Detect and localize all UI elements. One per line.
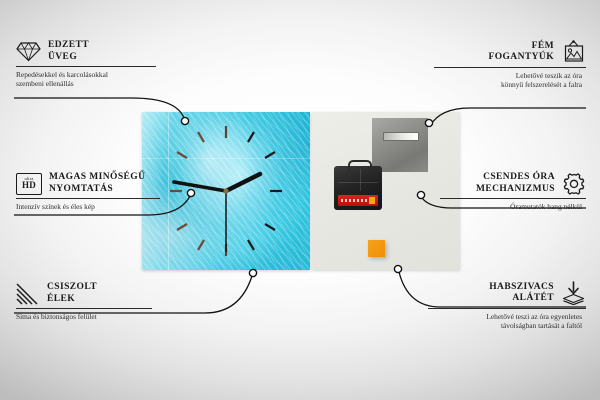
- infographic-canvas: EDZETT ÜVEG Repedésekkel és karcolásokka…: [0, 0, 600, 400]
- ultra-hd-icon-bottom: HD: [22, 181, 36, 190]
- foam-pad-icon: [561, 281, 586, 305]
- feature-divider: [440, 198, 586, 199]
- feature-divider: [16, 198, 160, 199]
- battery-label: [341, 199, 367, 202]
- feature-title: CSENDES ÓRA MECHANIZMUS: [476, 172, 555, 195]
- feature-divider: [16, 66, 156, 67]
- clock-mechanism-box: [334, 166, 382, 210]
- feature-edzett-uveg: EDZETT ÜVEG Repedésekkel és karcolásokka…: [16, 40, 171, 88]
- feature-magas-minosegu-nyomtatas: ultra HD MAGAS MINŐSÉGŰ NYOMTATÁS Intenz…: [16, 172, 176, 211]
- polished-edges-icon: [16, 283, 40, 305]
- feature-csiszolt-elek: CSISZOLT ÉLEK Sima és biztonságos felüle…: [16, 282, 166, 321]
- connector-dot-csiszolt-elek: [249, 269, 256, 276]
- hour-hand: [226, 174, 260, 191]
- metal-hanger-plate: [372, 118, 428, 172]
- product-photo: [142, 112, 460, 270]
- feature-title: MAGAS MINŐSÉGŰ NYOMTATÁS: [49, 172, 145, 195]
- feature-fem-fogantyuk: FÉM FOGANTYÚK Lehetővé teszik az óra kön…: [414, 40, 586, 89]
- feature-subtitle: Intenzív színek és éles kép: [16, 202, 176, 211]
- feature-subtitle: Sima és biztonságos felület: [16, 312, 166, 321]
- feature-subtitle: Lehetővé teszi az óra egyenletes távolsá…: [408, 312, 586, 330]
- clock-center-cap: [223, 188, 228, 193]
- feature-title: FÉM FOGANTYÚK: [488, 41, 554, 64]
- diamond-icon: [16, 41, 41, 62]
- feature-subtitle: Repedésekkel és karcolásokkal szembeni e…: [16, 70, 171, 88]
- feature-subtitle: Lehetővé teszik az óra könnyű felszerelé…: [414, 71, 586, 89]
- mechanism-seam-vertical: [360, 169, 361, 191]
- feature-title: EDZETT ÜVEG: [48, 40, 89, 63]
- hanger-keyhole-slot: [383, 132, 419, 141]
- picture-hanger-icon: [561, 40, 586, 64]
- feature-csendes-ora-mechanizmus: CSENDES ÓRA MECHANIZMUS Óramutatók hang …: [421, 172, 586, 211]
- feature-title: CSISZOLT ÉLEK: [47, 282, 97, 305]
- feature-divider: [434, 67, 586, 68]
- foam-pad: [368, 240, 385, 257]
- feature-divider: [428, 308, 586, 309]
- mechanism-seam: [338, 182, 378, 183]
- feature-divider: [16, 308, 152, 309]
- feature-subtitle: Óramutatók hang nélkül: [421, 202, 586, 211]
- minute-hand: [174, 182, 226, 191]
- battery: [338, 195, 378, 206]
- feature-title: HABSZIVACS ALÁTÉT: [489, 282, 554, 305]
- gear-icon: [562, 172, 586, 195]
- feature-habszivacs-alatet: HABSZIVACS ALÁTÉT Lehetővé teszi az óra …: [408, 281, 586, 330]
- ultra-hd-icon: ultra HD: [16, 173, 42, 195]
